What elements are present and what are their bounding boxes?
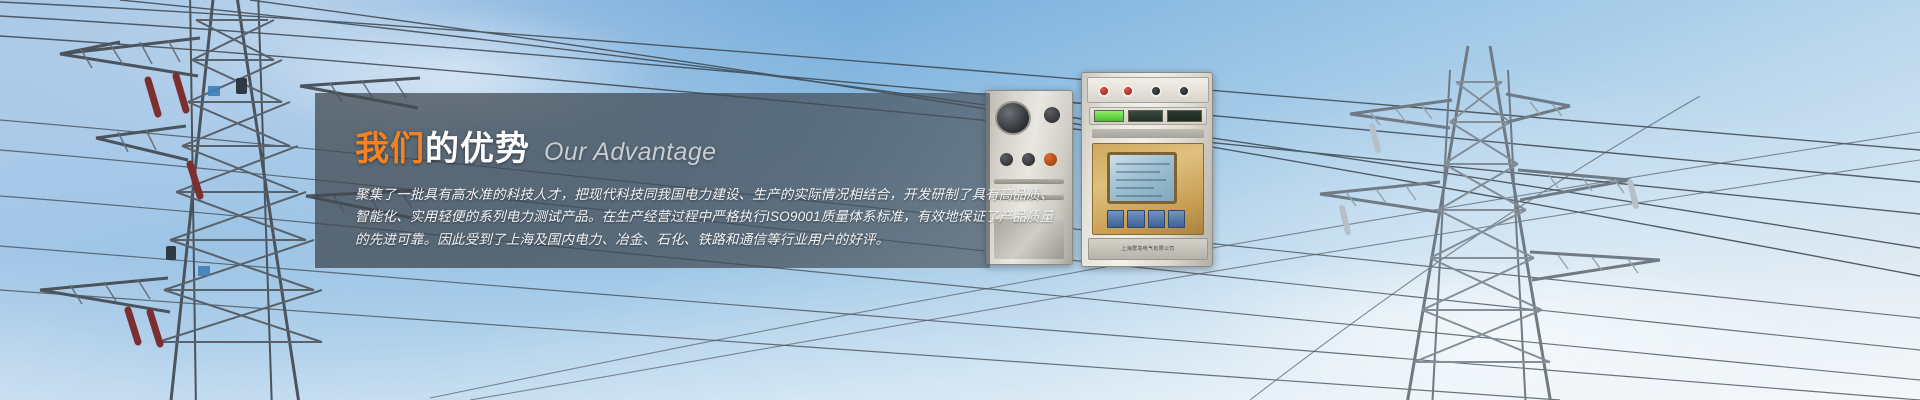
indicator-dark-a [1128,110,1163,122]
page-title: 我们的优势 [355,132,530,168]
keypad-key [1148,210,1165,228]
device-left-knob-a [1000,153,1013,166]
device-right-brand-text: 上海群亳电气有限公司 [1089,245,1207,252]
transmission-tower-right [1200,30,1720,400]
terminal-port-red [1098,85,1110,97]
device-left-lower-panel [994,219,1064,259]
description-line: 的先进可靠。因此受到了上海及国内电力、冶金、石化、铁路和通信等行业用户的好评。 [355,229,995,252]
terminal-port-black [1150,85,1162,97]
device-left-gauge [995,101,1031,135]
banner-content: 我们的优势 Our Advantage 聚集了一批具有高水准的科技人才，把现代科… [355,132,995,251]
page-title-highlight: 我们 [355,130,425,168]
keypad-key [1127,210,1144,228]
device-left-knob-top [1044,107,1060,123]
device-left-knob-c [1044,153,1057,166]
terminal-port-black-2 [1178,85,1190,97]
terminal-port-red-2 [1122,85,1134,97]
device-cabinet-left [985,90,1073,265]
banner-description: 聚集了一批具有高水准的科技人才，把现代科技同我国电力建设、生产的实际情况相结合，… [355,184,995,252]
description-line: 智能化、实用轻便的系列电力测试产品。在生产经营过程中严格执行ISO9001质量体… [355,206,995,229]
advantage-banner: 上海群亳电气有限公司 我们的优势 Our Advantage 聚集了一批具有高水… [0,0,1920,400]
device-left-strip-a [994,179,1064,184]
keypad-key [1107,210,1124,228]
device-right-model-label [1092,129,1204,138]
device-right-terminal-row [1087,77,1209,103]
page-subtitle-en: Our Advantage [544,138,716,167]
device-cabinet-right: 上海群亳电气有限公司 [1081,72,1213,267]
banner-title-row: 我们的优势 Our Advantage [355,132,995,168]
device-right-base: 上海群亳电气有限公司 [1088,238,1208,260]
page-title-rest: 的优势 [425,130,530,168]
indicator-dark-b [1167,110,1202,122]
keypad-key [1168,210,1185,228]
device-left-knob-b [1022,153,1035,166]
device-right-front-panel [1092,143,1204,235]
device-right-keypad [1107,210,1185,228]
device-right-display-row [1089,107,1207,125]
test-instrument-photos: 上海群亳电气有限公司 [985,72,1220,267]
description-line: 聚集了一批具有高水准的科技人才，把现代科技同我国电力建设、生产的实际情况相结合，… [355,184,995,207]
device-right-screen [1107,152,1177,204]
indicator-green [1094,110,1124,122]
